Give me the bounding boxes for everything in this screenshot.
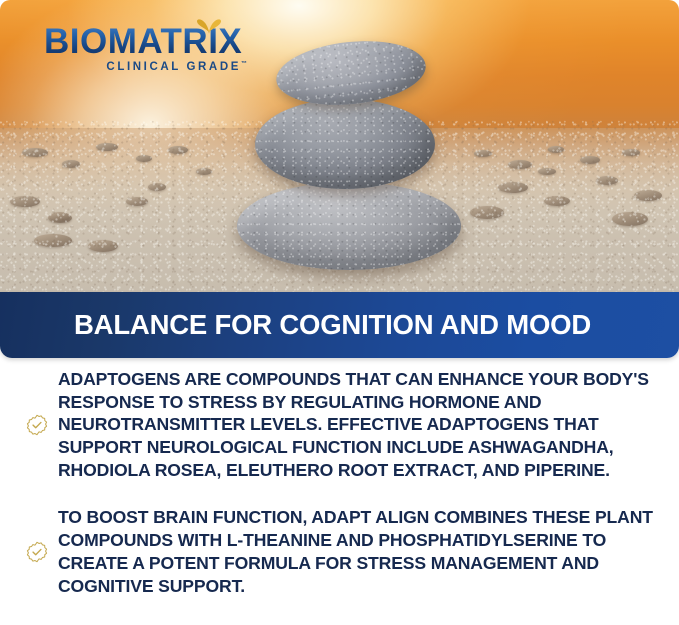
logo-tagline: CLINICAL GRADE™	[44, 61, 259, 73]
list-item: ADAPTOGENS ARE COMPOUNDS THAT CAN ENHANC…	[0, 368, 679, 481]
stone-middle	[255, 99, 435, 189]
benefits-list: ADAPTOGENS ARE COMPOUNDS THAT CAN ENHANC…	[0, 368, 679, 597]
trademark-symbol: ™	[241, 61, 247, 67]
stone-bottom	[237, 182, 461, 270]
list-item: TO BOOST BRAIN FUNCTION, ADAPT ALIGN COM…	[0, 506, 679, 597]
product-infographic-page: BIOMATRIX CLINICAL GRADE™ BALANCE FOR CO…	[0, 0, 679, 625]
check-badge-icon	[26, 541, 48, 563]
banner-title: BALANCE FOR COGNITION AND MOOD	[74, 309, 591, 341]
logo-wordmark: BIOMATRIX	[44, 24, 259, 59]
logo-tagline-text: CLINICAL GRADE	[106, 61, 241, 73]
headline-banner: BALANCE FOR COGNITION AND MOOD	[0, 292, 679, 358]
brand-logo[interactable]: BIOMATRIX CLINICAL GRADE™	[44, 24, 259, 73]
list-item-text: ADAPTOGENS ARE COMPOUNDS THAT CAN ENHANC…	[58, 368, 663, 481]
hero-image: BIOMATRIX CLINICAL GRADE™	[0, 0, 679, 292]
check-badge-icon	[26, 414, 48, 436]
list-item-text: TO BOOST BRAIN FUNCTION, ADAPT ALIGN COM…	[58, 506, 663, 597]
butterfly-icon	[196, 18, 222, 34]
